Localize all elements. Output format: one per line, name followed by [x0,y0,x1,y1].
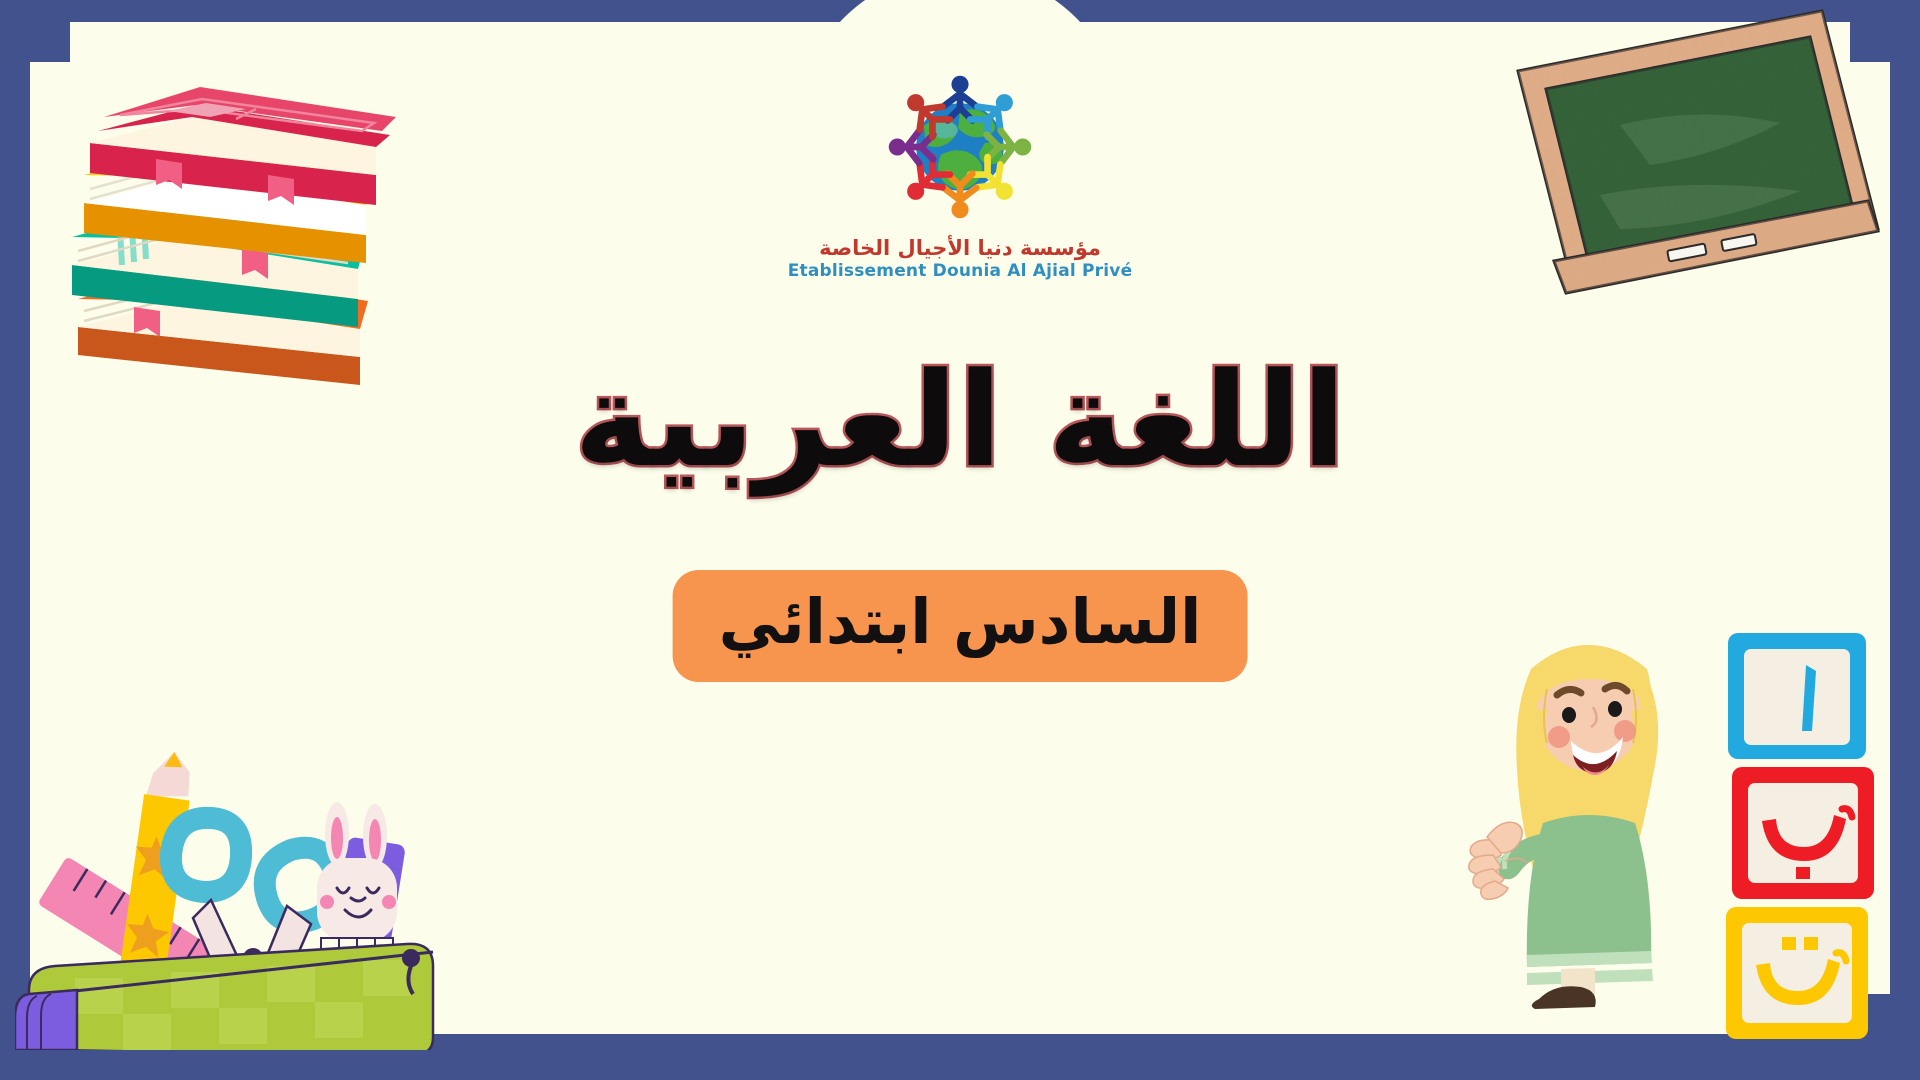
grade-level-label: السادس ابتدائي [719,588,1202,656]
school-logo: مؤسسة دنيا الأجيال الخاصة Etablissement … [750,52,1170,282]
green-chalkboard-illustration [1500,5,1880,315]
globe-people-icon [865,52,1055,242]
logo-arabic-name: مؤسسة دنيا الأجيال الخاصة [750,236,1170,260]
alphabet-block-ba [1732,767,1874,899]
alphabet-block-ta [1726,907,1868,1039]
pencil-case-with-supplies-illustration [15,690,435,1050]
arabic-alphabet-blocks [1720,625,1885,1045]
stack-of-books-illustration [60,55,420,395]
logo-french-name: Etablissement Dounia Al Ajial Privé [750,261,1170,281]
page-title: اللغة العربية [0,352,1920,489]
waving-schoolgirl-illustration [1465,615,1695,1035]
alphabet-block-alif [1728,633,1866,759]
slide-canvas: مؤسسة دنيا الأجيال الخاصة Etablissement … [0,0,1920,1080]
grade-level-badge: السادس ابتدائي [673,570,1248,682]
